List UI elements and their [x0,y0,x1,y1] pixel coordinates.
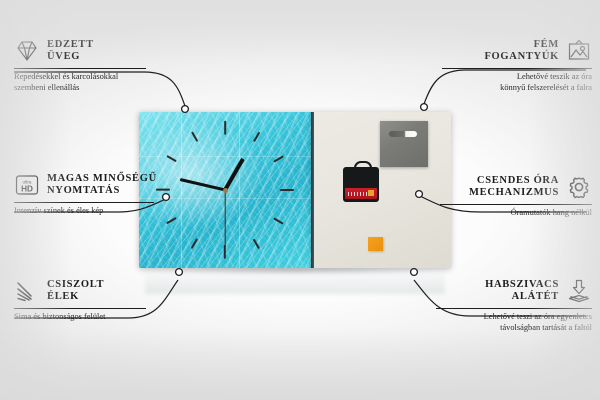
clock-tick [191,131,198,141]
infographic-canvas: EDZETT ÜVEG Repedésekkel és karcolásokka… [0,0,600,400]
clock-dial [139,112,311,268]
callout-description-line: könnyű felszerelését a falra [442,83,592,94]
callout-magas-minosegu-nyomtatas: ultra HD MAGAS MINŐSÉGŰ NYOMTATÁS Intenz… [14,172,154,217]
clock-center-cap [223,188,228,193]
callout-description-line: Sima és biztonságos felület [14,312,146,323]
callout-fem-fogantyuk: FÉM FOGANTYÚK Lehetővé teszik az óra kön… [442,38,592,93]
clock-second-hand [224,190,225,248]
callout-habszivacs-alatet: HABSZIVACS ALÁTÉT Lehetővé teszi az óra … [436,278,592,333]
callout-title: EDZETT ÜVEG [47,39,94,63]
product-image [139,112,451,268]
callout-description-line: Lehetővé teszi az óra egyenletes [436,312,592,323]
clock-hour-hand [223,158,244,191]
callout-edzett-uveg: EDZETT ÜVEG Repedésekkel és karcolásokka… [14,38,146,93]
callout-divider [14,202,154,203]
callout-description-line: Intenzív színek és éles kép [14,206,154,217]
clock-tick [253,239,260,249]
callout-header: EDZETT ÜVEG [14,38,146,64]
battery [345,188,377,199]
glass-edge [311,112,314,268]
callout-title: CSISZOLT ÉLEK [47,279,104,303]
clock-tick [280,189,294,191]
clock-tick [166,218,176,225]
polished-edges-icon [14,278,40,304]
clock-minute-hand [180,178,226,192]
diamond-icon [14,38,40,64]
svg-text:HD: HD [21,184,33,193]
callout-csendes-ora-mechanizmus: CSENDES ÓRA MECHANIZMUS Óramutatók hang … [440,174,592,219]
clock-back-panel [311,112,451,268]
callout-title: FÉM FOGANTYÚK [484,39,559,63]
foam-pad [368,237,383,251]
callout-divider [440,204,592,205]
callout-divider [14,308,146,309]
callout-description-line: szembeni ellenállás [14,83,146,94]
clock-tick [274,218,284,225]
callout-header: ultra HD MAGAS MINŐSÉGŰ NYOMTATÁS [14,172,154,198]
product-reflection [145,268,445,294]
clock-tick [224,121,226,135]
connector-dot-fem-fogantyuk [421,104,428,111]
clock-tick [156,189,170,191]
battery-label [348,192,368,196]
callout-description-line: távolságban tartását a faltól [436,323,592,334]
callout-description-line: Lehetővé teszik az óra [442,72,592,83]
callout-divider [442,68,592,69]
callout-title: HABSZIVACS ALÁTÉT [485,279,559,303]
clock-tick [253,131,260,141]
foam-pad-arrow-icon [566,278,592,304]
callout-header: HABSZIVACS ALÁTÉT [436,278,592,304]
clock-tick [166,156,176,163]
hanger-slot [389,131,417,137]
metal-hanger-plate [380,121,428,167]
battery-plus-terminal [368,190,374,196]
gear-icon [566,174,592,200]
callout-divider [436,308,592,309]
clock-tick [274,156,284,163]
callout-title: MAGAS MINŐSÉGŰ NYOMTATÁS [47,173,157,197]
callout-description-line: Repedésekkel és karcolásokkal [14,72,146,83]
mechanism-hook [354,161,372,172]
callout-header: CSENDES ÓRA MECHANIZMUS [440,174,592,200]
callout-header: FÉM FOGANTYÚK [442,38,592,64]
clock-tick [191,239,198,249]
callout-csiszolt-elek: CSISZOLT ÉLEK Sima és biztonságos felüle… [14,278,146,323]
callout-header: CSISZOLT ÉLEK [14,278,146,304]
clock-front-face [139,112,311,268]
callout-title: CSENDES ÓRA MECHANIZMUS [469,175,559,199]
picture-hanger-icon [566,38,592,64]
quartz-mechanism [343,167,379,202]
ultra-hd-icon: ultra HD [14,172,40,198]
callout-description-line: Óramutatók hang nélkül [440,208,592,219]
callout-divider [14,68,146,69]
